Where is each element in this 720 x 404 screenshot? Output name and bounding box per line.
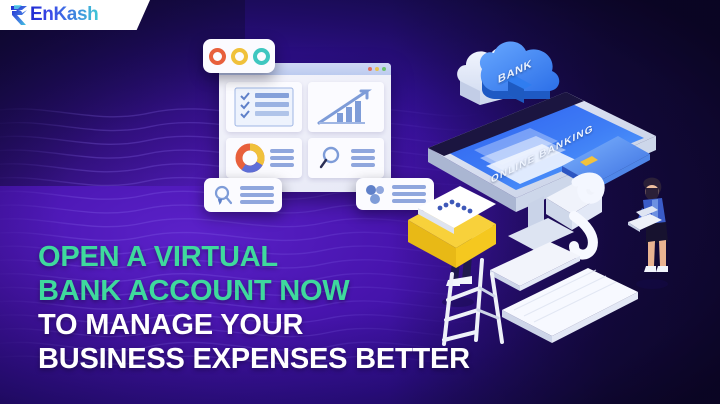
headline-line-1: OPEN A VIRTUAL — [38, 243, 470, 272]
dashboard-window[interactable] — [219, 63, 391, 192]
donut-tile-lines — [270, 149, 294, 167]
headline-line-4: BUSINESS EXPENSES BETTER — [38, 345, 470, 374]
brand-logo-badge[interactable]: EnKash — [0, 0, 124, 30]
brand-name: EnKash — [30, 4, 98, 26]
window-minimize-dot[interactable] — [375, 67, 379, 71]
window-close-dot[interactable] — [368, 67, 372, 71]
checklist-icon — [234, 87, 294, 127]
headline-line-3: TO MANAGE YOUR — [38, 311, 470, 340]
search-tile[interactable] — [308, 138, 384, 178]
window-maximize-dot[interactable] — [382, 67, 386, 71]
three-circles-icon — [364, 184, 386, 204]
status-ring-2 — [253, 48, 270, 65]
headline: OPEN A VIRTUAL BANK ACCOUNT NOW TO MANAG… — [38, 243, 470, 379]
donut-chart-icon — [235, 143, 265, 173]
headline-line-2: BANK ACCOUNT NOW — [38, 277, 470, 306]
growth-chart-tile[interactable] — [308, 82, 384, 132]
enkash-rupee-logo-icon — [9, 4, 29, 26]
status-ring-0 — [209, 48, 226, 65]
banner-root: BANK — [0, 0, 720, 404]
magnifier-icon — [318, 144, 346, 172]
donut-chart-tile[interactable] — [226, 138, 302, 178]
dashboard-tiles — [219, 75, 391, 185]
search-tile-lines — [351, 149, 375, 167]
location-search-chip[interactable] — [204, 178, 282, 212]
woman-with-laptop — [628, 178, 668, 289]
bar-chart-arrow-icon — [317, 87, 375, 127]
location-chip-lines — [240, 186, 274, 204]
checklist-tile[interactable] — [226, 82, 302, 132]
map-pin-search-icon — [212, 184, 234, 206]
status-rings-chip[interactable] — [203, 39, 275, 73]
bank-cloud: BANK — [452, 33, 577, 119]
status-ring-1 — [231, 48, 248, 65]
